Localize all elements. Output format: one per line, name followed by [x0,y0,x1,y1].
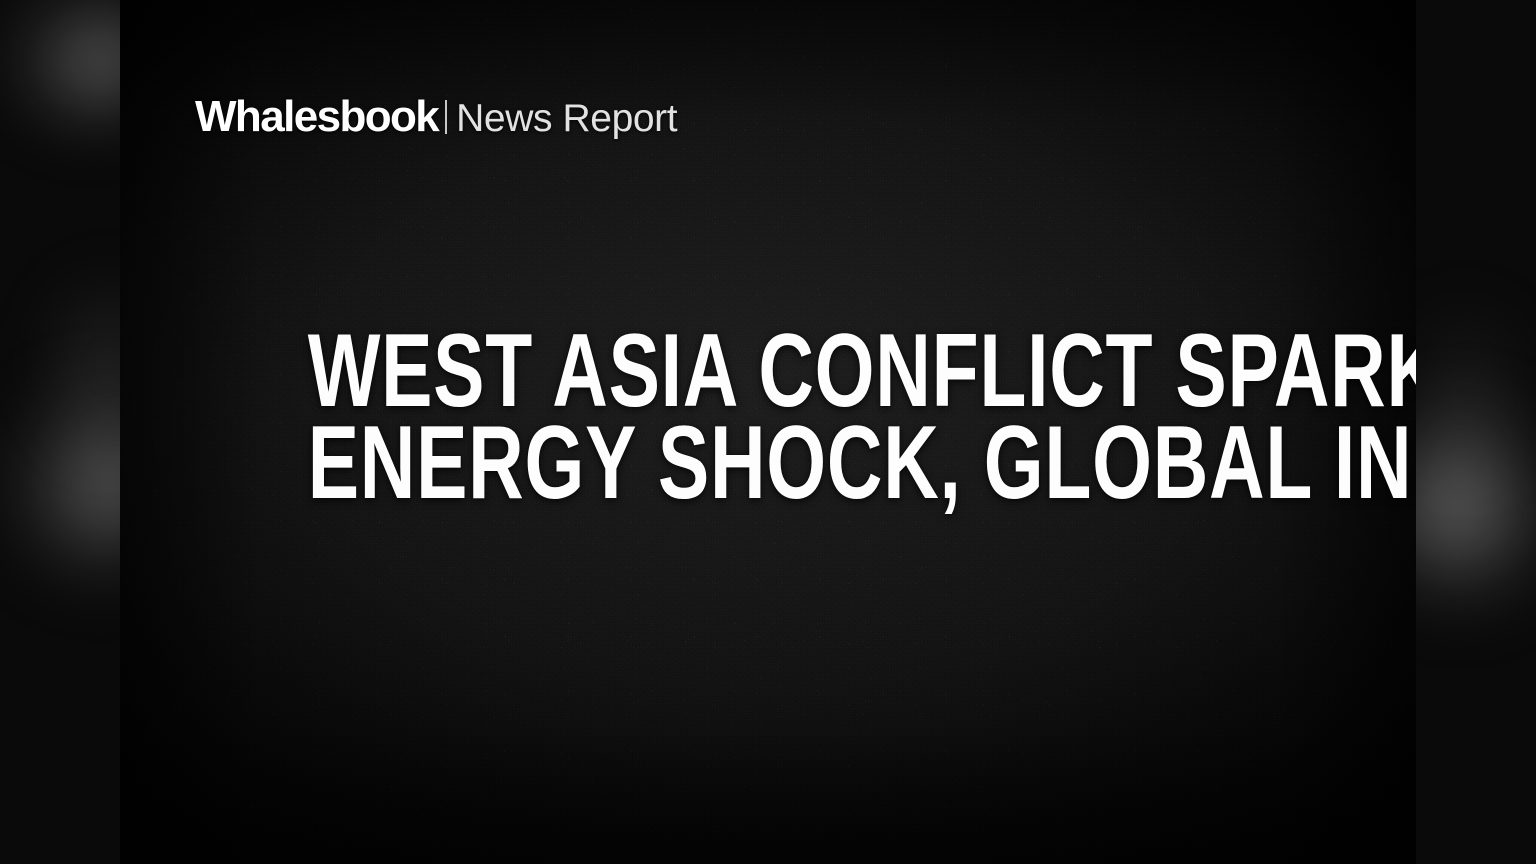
brand-subtitle: News Report [456,99,677,138]
brand-lockup[interactable]: Whalesbook News Report [195,95,677,139]
left-blurred-panel [0,0,120,864]
backdrop-glow-upper-right [1416,300,1526,470]
right-blurred-panel [1416,0,1536,864]
poster-canvas: Whalesbook News Report WEST ASIA CONFLIC… [120,0,1416,864]
brand-name: Whalesbook [195,95,438,139]
headline: WEST ASIA CONFLICT SPARKS HISTORIC ENERG… [120,322,1416,512]
news-report-card: Whalesbook News Report WEST ASIA CONFLIC… [0,0,1536,864]
brand-divider-icon [445,100,447,134]
backdrop-glow-bottom-left [5,380,120,580]
backdrop-glow-right [1416,400,1536,610]
backdrop-glow-mid-left [40,270,120,460]
headline-line-2: ENERGY SHOCK, GLOBAL INFLATION SURGE [308,414,1229,512]
backdrop-glow-top-left [10,0,120,120]
